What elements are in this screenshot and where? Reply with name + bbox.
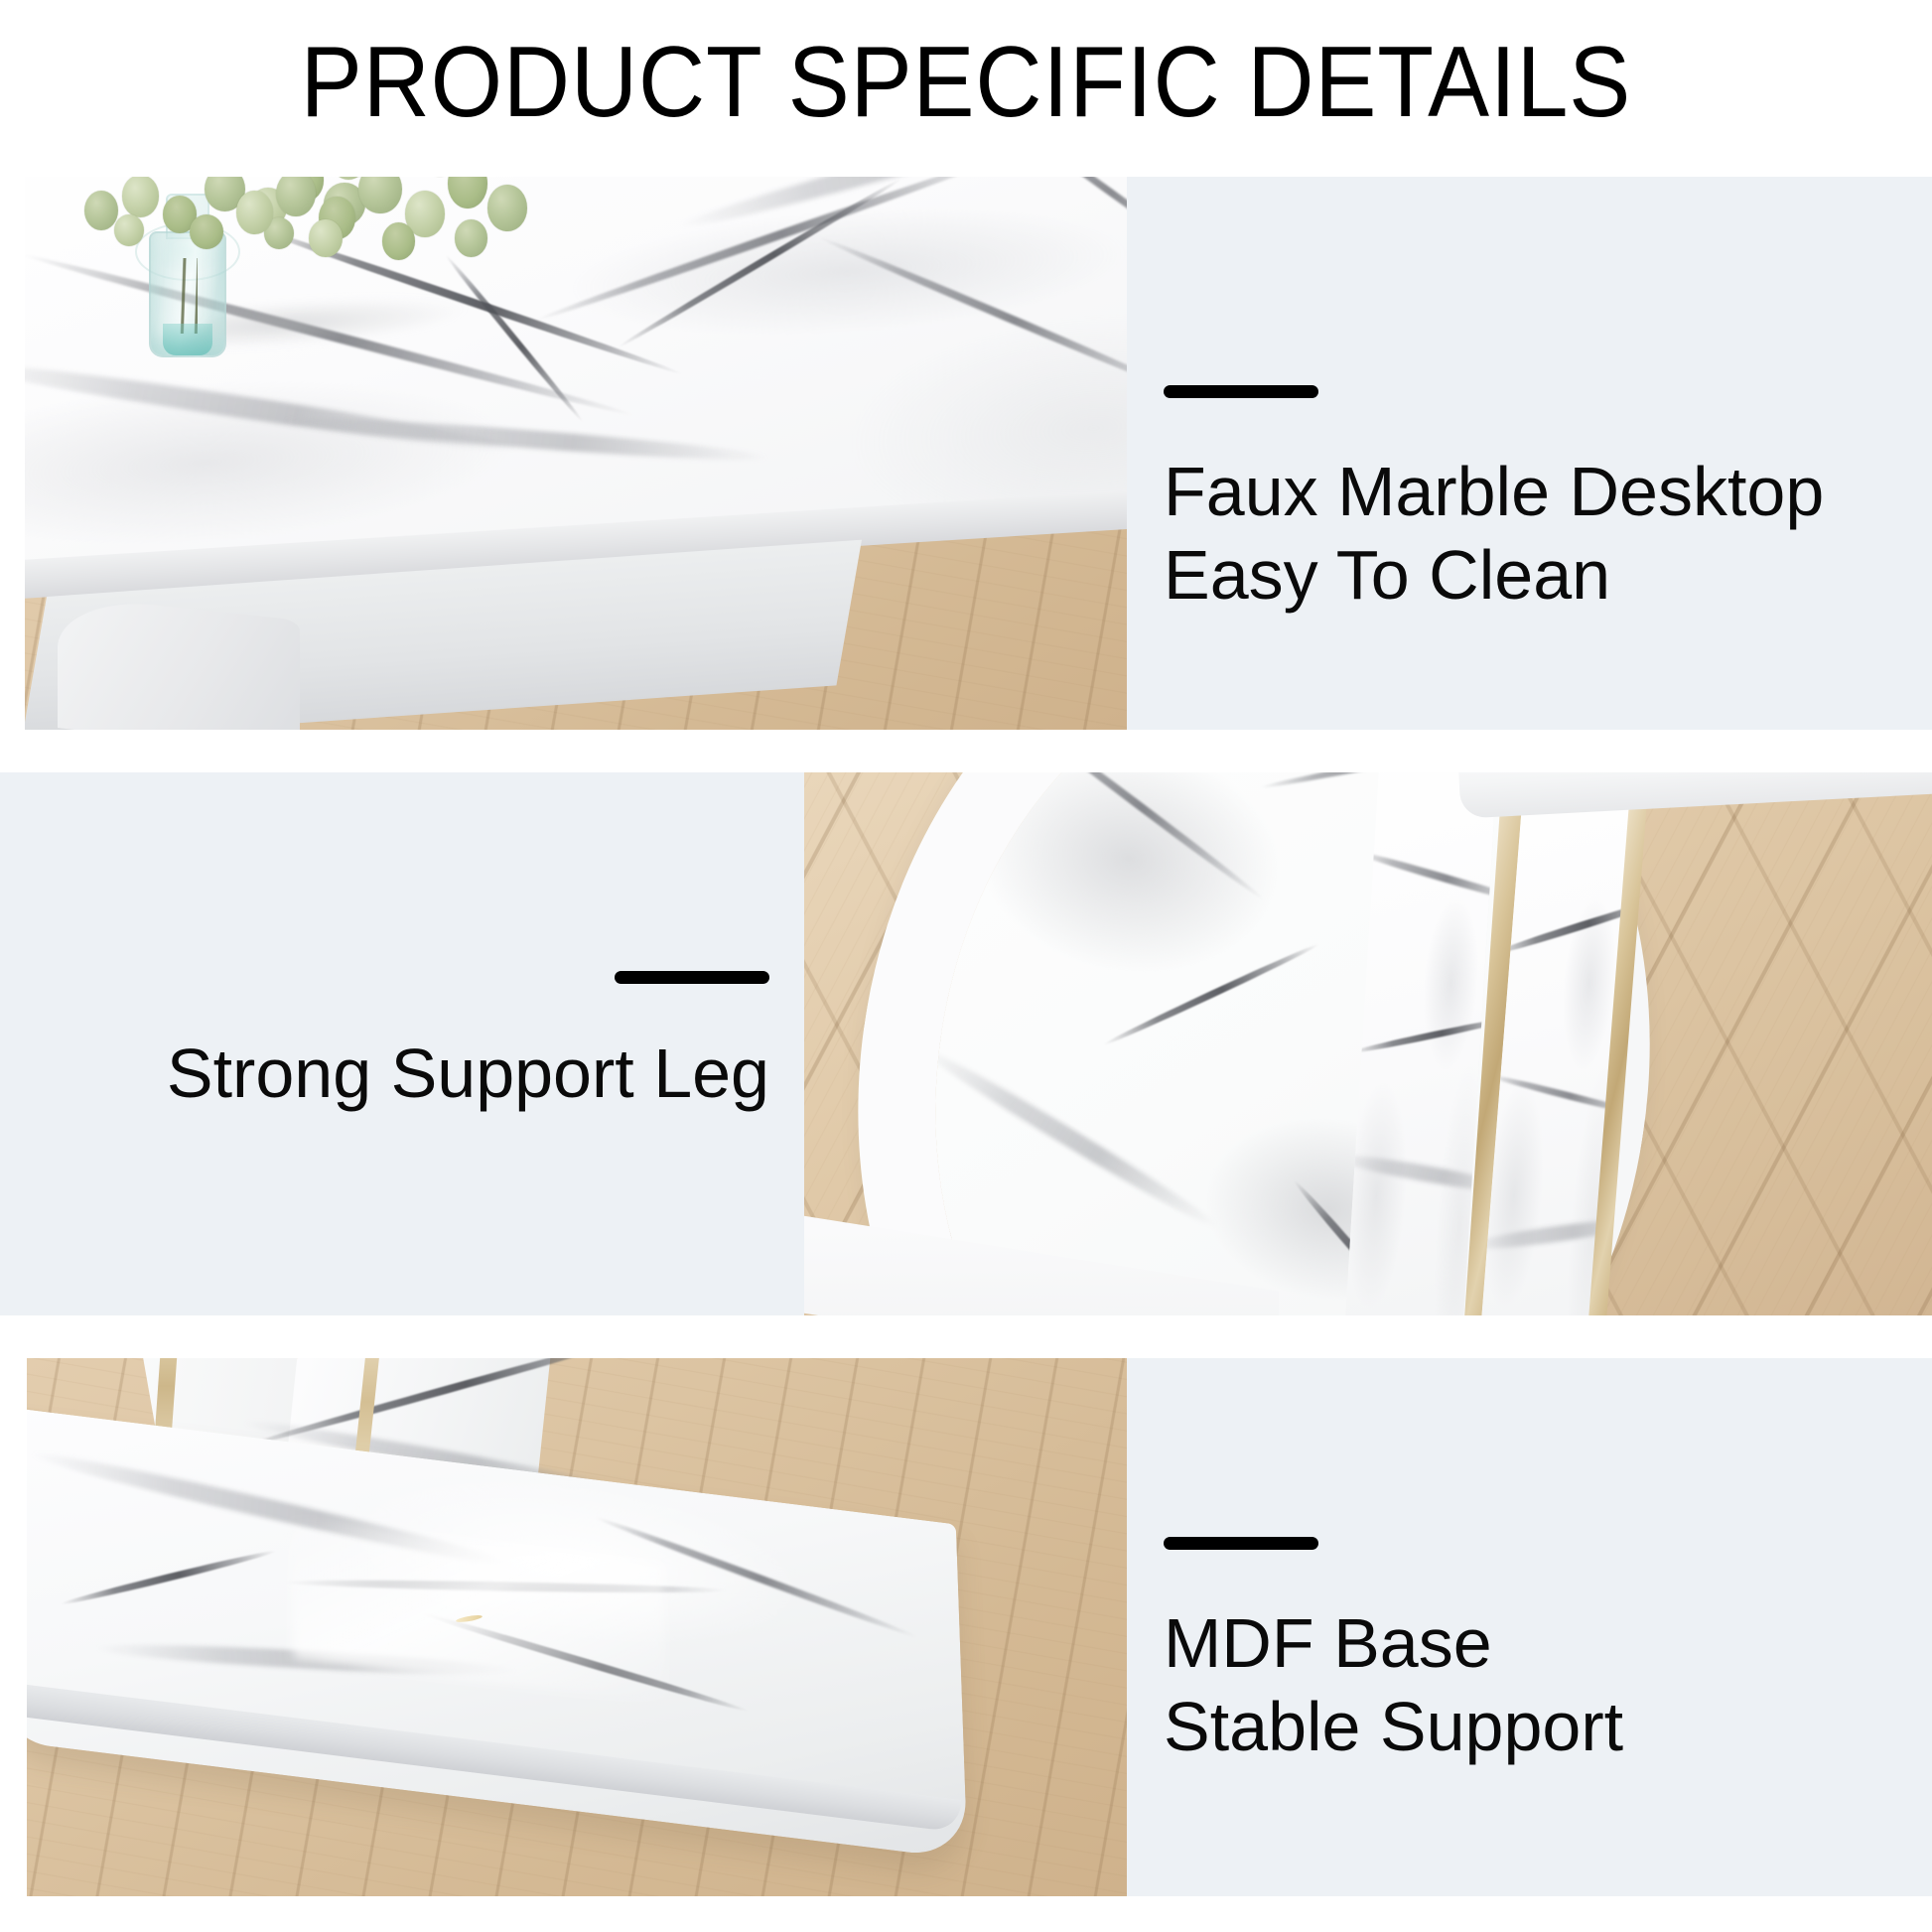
caption-block: MDF Base Stable Support [1164,1537,1623,1768]
caption-block: Faux Marble Desktop Easy To Clean [1164,385,1824,617]
decorative-vase [135,194,236,354]
detail-section-mdf-base: MDF Base Stable Support [0,1358,1932,1896]
caption-line-1: Strong Support Leg [161,1032,769,1115]
product-photo-support-leg [804,772,1932,1315]
detail-section-faux-marble-desktop: Faux Marble Desktop Easy To Clean [0,177,1932,730]
caption-block: Strong Support Leg [161,971,769,1115]
horizontal-dash-icon [1164,1537,1318,1550]
horizontal-dash-icon [1164,385,1318,398]
horizontal-dash-icon [615,971,769,984]
caption-line-1: Faux Marble Desktop [1164,450,1824,533]
caption-line-2: Stable Support [1164,1685,1623,1768]
product-photo-marble-desktop [25,177,1127,730]
page-title: PRODUCT SPECIFIC DETAILS [77,28,1855,137]
caption-line-2: Easy To Clean [1164,533,1824,617]
detail-section-strong-support-leg: Strong Support Leg [0,772,1932,1315]
caption-line-1: MDF Base [1164,1601,1623,1685]
product-photo-mdf-base [27,1358,1127,1896]
